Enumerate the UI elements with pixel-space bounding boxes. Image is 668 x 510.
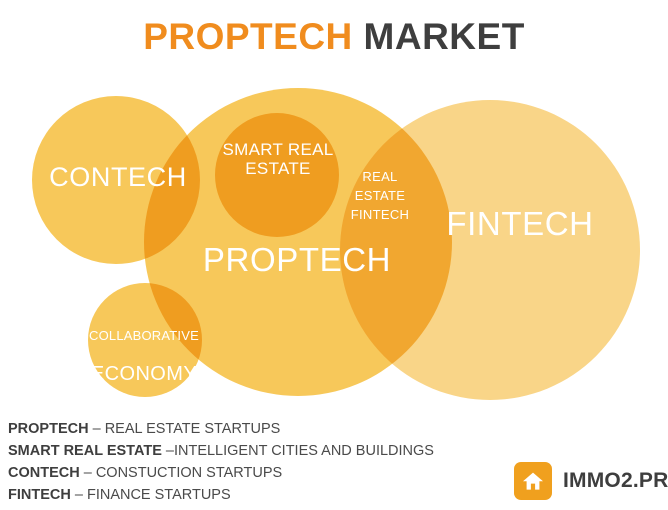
house-icon (522, 471, 544, 491)
title-highlight: PROPTECH (143, 16, 353, 57)
legend-description: – CONSTUCTION STARTUPS (80, 465, 282, 481)
legend-row-contech: CONTECH – CONSTUCTION STARTUPS (8, 462, 478, 484)
title-suffix: MARKET (364, 16, 525, 57)
logo-text: IMMO2.PRO (563, 469, 668, 493)
legend-description: – FINANCE STARTUPS (71, 487, 231, 503)
logo-badge (514, 462, 552, 500)
venn-circles-graphic (0, 70, 668, 410)
circle-collaborative-economy (88, 283, 202, 397)
brand-logo: IMMO2.PRO (514, 462, 668, 500)
proptech-market-infographic: PROPTECH MARKET CONTECH PROPTECH FINTECH… (0, 0, 668, 510)
legend-term: PROPTECH (8, 421, 89, 437)
page-title: PROPTECH MARKET (0, 16, 668, 58)
venn-diagram: CONTECH PROPTECH FINTECH SMART REAL ESTA… (0, 70, 668, 410)
legend-row-proptech: PROPTECH – REAL ESTATE STARTUPS (8, 418, 478, 440)
legend-row-fintech: FINTECH – FINANCE STARTUPS (8, 484, 478, 506)
legend-term: CONTECH (8, 465, 80, 481)
legend-description: –INTELLIGENT CITIES AND BUILDINGS (162, 443, 434, 459)
legend-term: SMART REAL ESTATE (8, 443, 162, 459)
legend-description: – REAL ESTATE STARTUPS (89, 421, 281, 437)
circle-smart-real-estate (215, 113, 339, 237)
legend-term: FINTECH (8, 487, 71, 503)
legend-row-smart-real-estate: SMART REAL ESTATE –INTELLIGENT CITIES AN… (8, 440, 478, 462)
legend: PROPTECH – REAL ESTATE STARTUPS SMART RE… (8, 418, 478, 506)
